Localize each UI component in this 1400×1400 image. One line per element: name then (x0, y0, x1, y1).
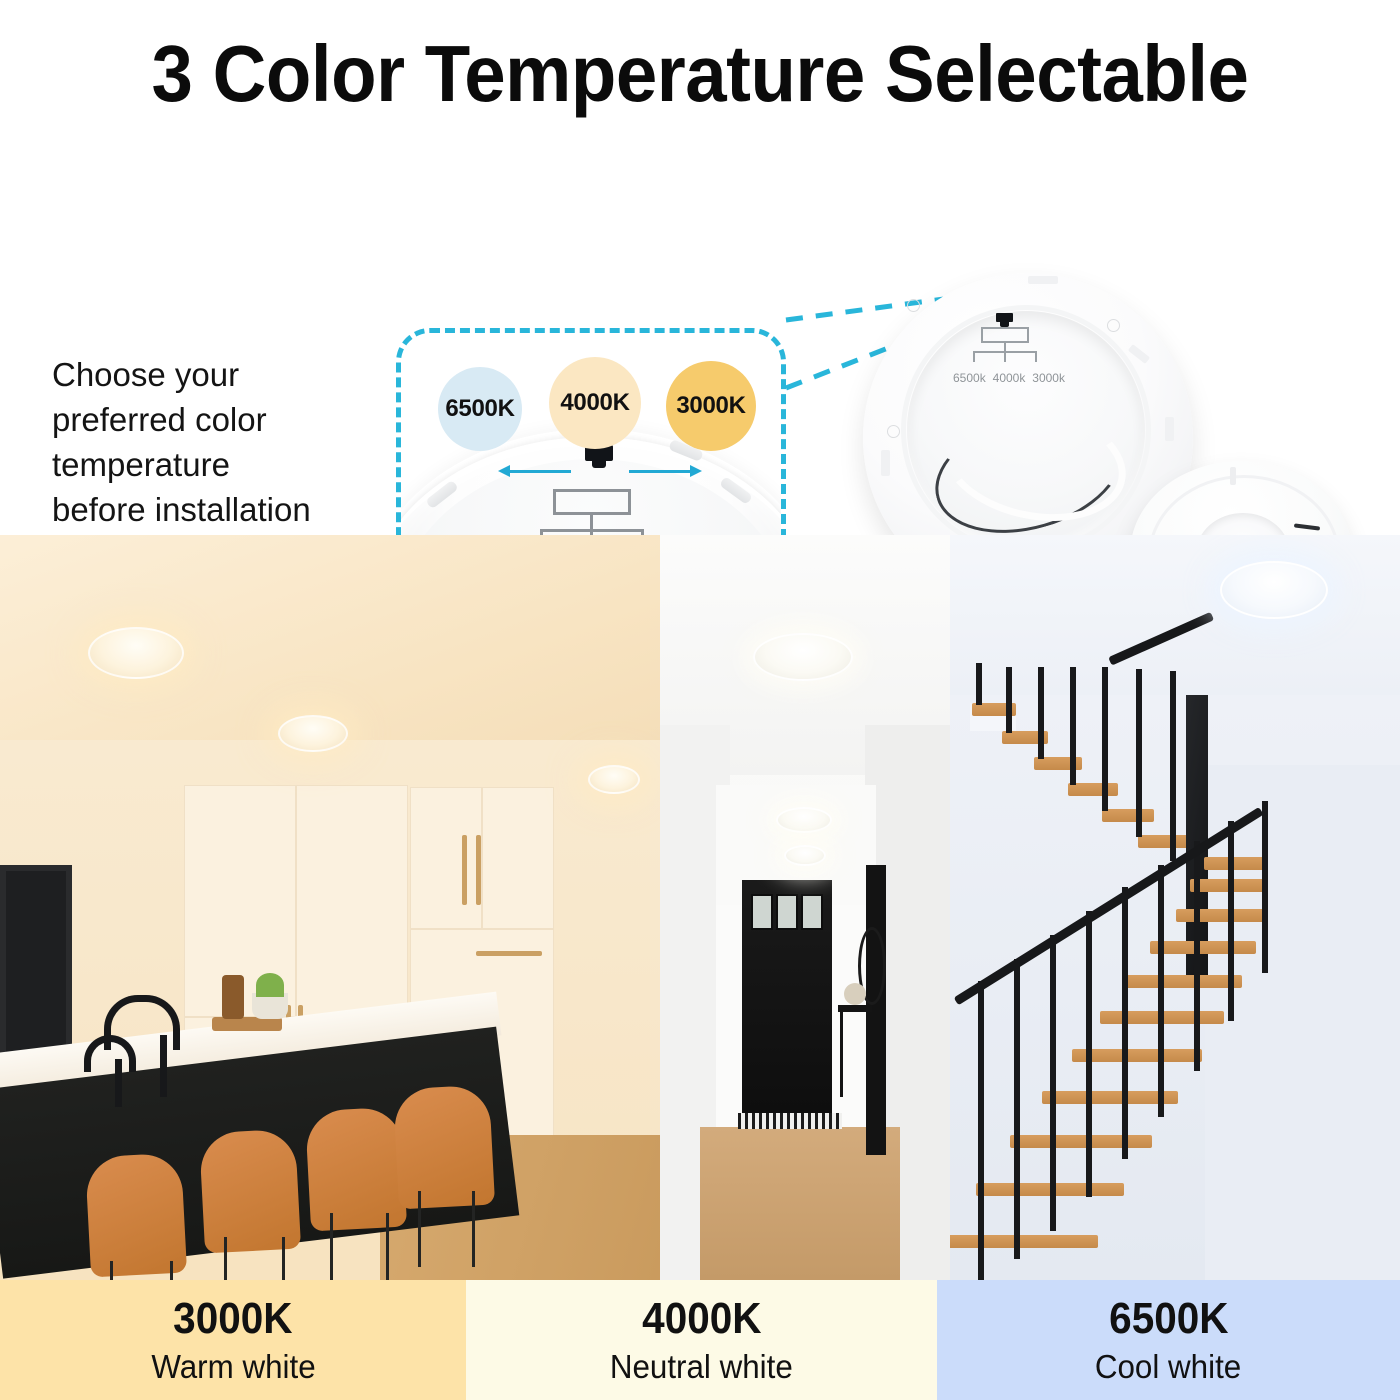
bar-stool (305, 1107, 407, 1232)
schematic-label-4000k: 4000k (993, 371, 1026, 385)
stair-tread (950, 1235, 1098, 1248)
cabinet-handle (462, 835, 467, 905)
band-kelvin-3000k: 3000K (173, 1296, 292, 1342)
staircase-scene-cool (950, 535, 1400, 1280)
faucet-stem (160, 1035, 167, 1097)
kitchen-scene-warm (0, 535, 660, 1280)
stair-baluster (1136, 669, 1142, 837)
bracket-notch (1230, 467, 1236, 485)
ceiling-lamp-neutral (784, 845, 826, 866)
door-glass-pane (751, 894, 773, 930)
staircase-wall-back (1205, 765, 1400, 1280)
table-leg (867, 1012, 870, 1097)
ceiling-lamp-neutral (776, 807, 832, 833)
console-table (838, 1005, 872, 1097)
stair-baluster (1014, 959, 1020, 1259)
housing-tab (1165, 417, 1174, 441)
color-temperature-switch[interactable] (996, 313, 1013, 322)
stair-tread (1102, 809, 1154, 822)
band-kelvin-4000k: 4000K (642, 1296, 761, 1342)
stool-leg (418, 1191, 421, 1267)
stair-baluster (1102, 667, 1108, 811)
stair-baluster (1262, 801, 1268, 973)
stool-leg (386, 1213, 389, 1280)
housing-tab (881, 450, 890, 476)
stair-tread (1010, 1135, 1152, 1148)
table-top (838, 1005, 872, 1012)
stair-baluster (1006, 667, 1012, 733)
housing-tab (1028, 276, 1058, 284)
screw-icon (907, 299, 920, 312)
decorative-vase (844, 983, 866, 1005)
stair-tread (1176, 909, 1268, 922)
cutting-board (212, 1017, 282, 1031)
band-6500k: 6500K Cool white (937, 1280, 1400, 1400)
stair-tread (1150, 941, 1256, 954)
schematic-label-6500k: 6500k (953, 371, 986, 385)
soap-dispenser (222, 975, 244, 1019)
refrigerator-handle (476, 951, 542, 956)
band-4000k: 4000K Neutral white (466, 1280, 937, 1400)
instruction-line-1: Choose your (52, 352, 382, 397)
ceiling-lamp-cool (1220, 561, 1328, 619)
stair-baluster (976, 663, 982, 705)
stair-baluster (1228, 821, 1234, 1021)
stool-leg (170, 1261, 173, 1280)
stool-leg (110, 1261, 113, 1280)
room-scene-photo (0, 535, 1400, 1280)
stair-tread (1138, 835, 1192, 848)
switch-schematic-labels: 6500k 4000k 3000k (953, 371, 1065, 385)
stair-baluster (1194, 841, 1200, 1071)
instruction-line-4: before installation (52, 487, 382, 532)
faucet-stem (115, 1059, 122, 1107)
schematic-label-3000k: 3000k (1032, 371, 1065, 385)
ceiling-lamp-neutral (753, 633, 853, 681)
stair-baluster (1050, 935, 1056, 1231)
bar-stool (199, 1129, 301, 1254)
hallway-scene-neutral (660, 535, 950, 1280)
band-name-4000k: Neutral white (610, 1346, 793, 1387)
schematic-leg-4000k (1004, 343, 1006, 362)
cabinet-door (296, 785, 408, 1017)
switch-schematic (967, 327, 1045, 363)
screw-icon (1107, 319, 1120, 332)
top-diagram-panel: Choose your preferred color temperature … (0, 130, 1400, 535)
color-temperature-bands: 3000K Warm white 4000K Neutral white 650… (0, 1280, 1400, 1400)
page-title: 3 Color Temperature Selectable (49, 28, 1351, 120)
stair-baluster (1086, 911, 1092, 1197)
bubble-6500k: 6500K (438, 367, 522, 451)
schematic-leg-3000k (1035, 351, 1037, 362)
stool-leg (282, 1237, 285, 1280)
instruction-line-3: temperature (52, 442, 382, 487)
schematic-body (981, 327, 1029, 343)
stair-baluster (1122, 887, 1128, 1159)
bubble-3000k: 3000K (666, 361, 756, 451)
stair-baluster (1070, 667, 1076, 785)
entry-door (742, 880, 832, 1115)
band-kelvin-6500k: 6500K (1109, 1296, 1228, 1342)
schematic-leg-6500k (973, 351, 975, 362)
stair-baluster (1158, 865, 1164, 1117)
instruction-text: Choose your preferred color temperature … (52, 352, 382, 532)
stair-tread (1126, 975, 1242, 988)
band-3000k: 3000K Warm white (0, 1280, 466, 1400)
bar-stool (393, 1085, 495, 1210)
door-glass-pane (801, 894, 823, 930)
cabinet-door (410, 787, 482, 929)
instruction-line-2: preferred color (52, 397, 382, 442)
cabinet-door (482, 787, 554, 929)
cabinet-handle (476, 835, 481, 905)
door-glass-pane (776, 894, 798, 930)
stair-baluster (1038, 667, 1044, 759)
band-name-6500k: Cool white (1095, 1346, 1241, 1387)
arrow-right-icon (629, 470, 691, 473)
ceiling-lamp-warm (278, 715, 348, 752)
screw-icon (887, 425, 900, 438)
stool-leg (330, 1213, 333, 1280)
schematic-body (553, 489, 631, 515)
ceiling-lamp-warm (588, 765, 640, 794)
ceiling-lamp-warm (88, 627, 184, 679)
stool-leg (472, 1191, 475, 1267)
arrow-left-icon (509, 470, 571, 473)
bar-stool (85, 1153, 187, 1278)
plant-leaves (256, 973, 284, 997)
entry-rug (738, 1113, 842, 1129)
table-leg (840, 1012, 843, 1097)
infographic-page: 3 Color Temperature Selectable Choose yo… (0, 0, 1400, 1400)
bubble-4000k: 4000K (549, 357, 641, 449)
stair-tread (1204, 857, 1268, 870)
stair-baluster (978, 981, 984, 1280)
stool-leg (224, 1237, 227, 1280)
band-name-3000k: Warm white (151, 1346, 315, 1387)
stair-baluster (1170, 671, 1176, 861)
